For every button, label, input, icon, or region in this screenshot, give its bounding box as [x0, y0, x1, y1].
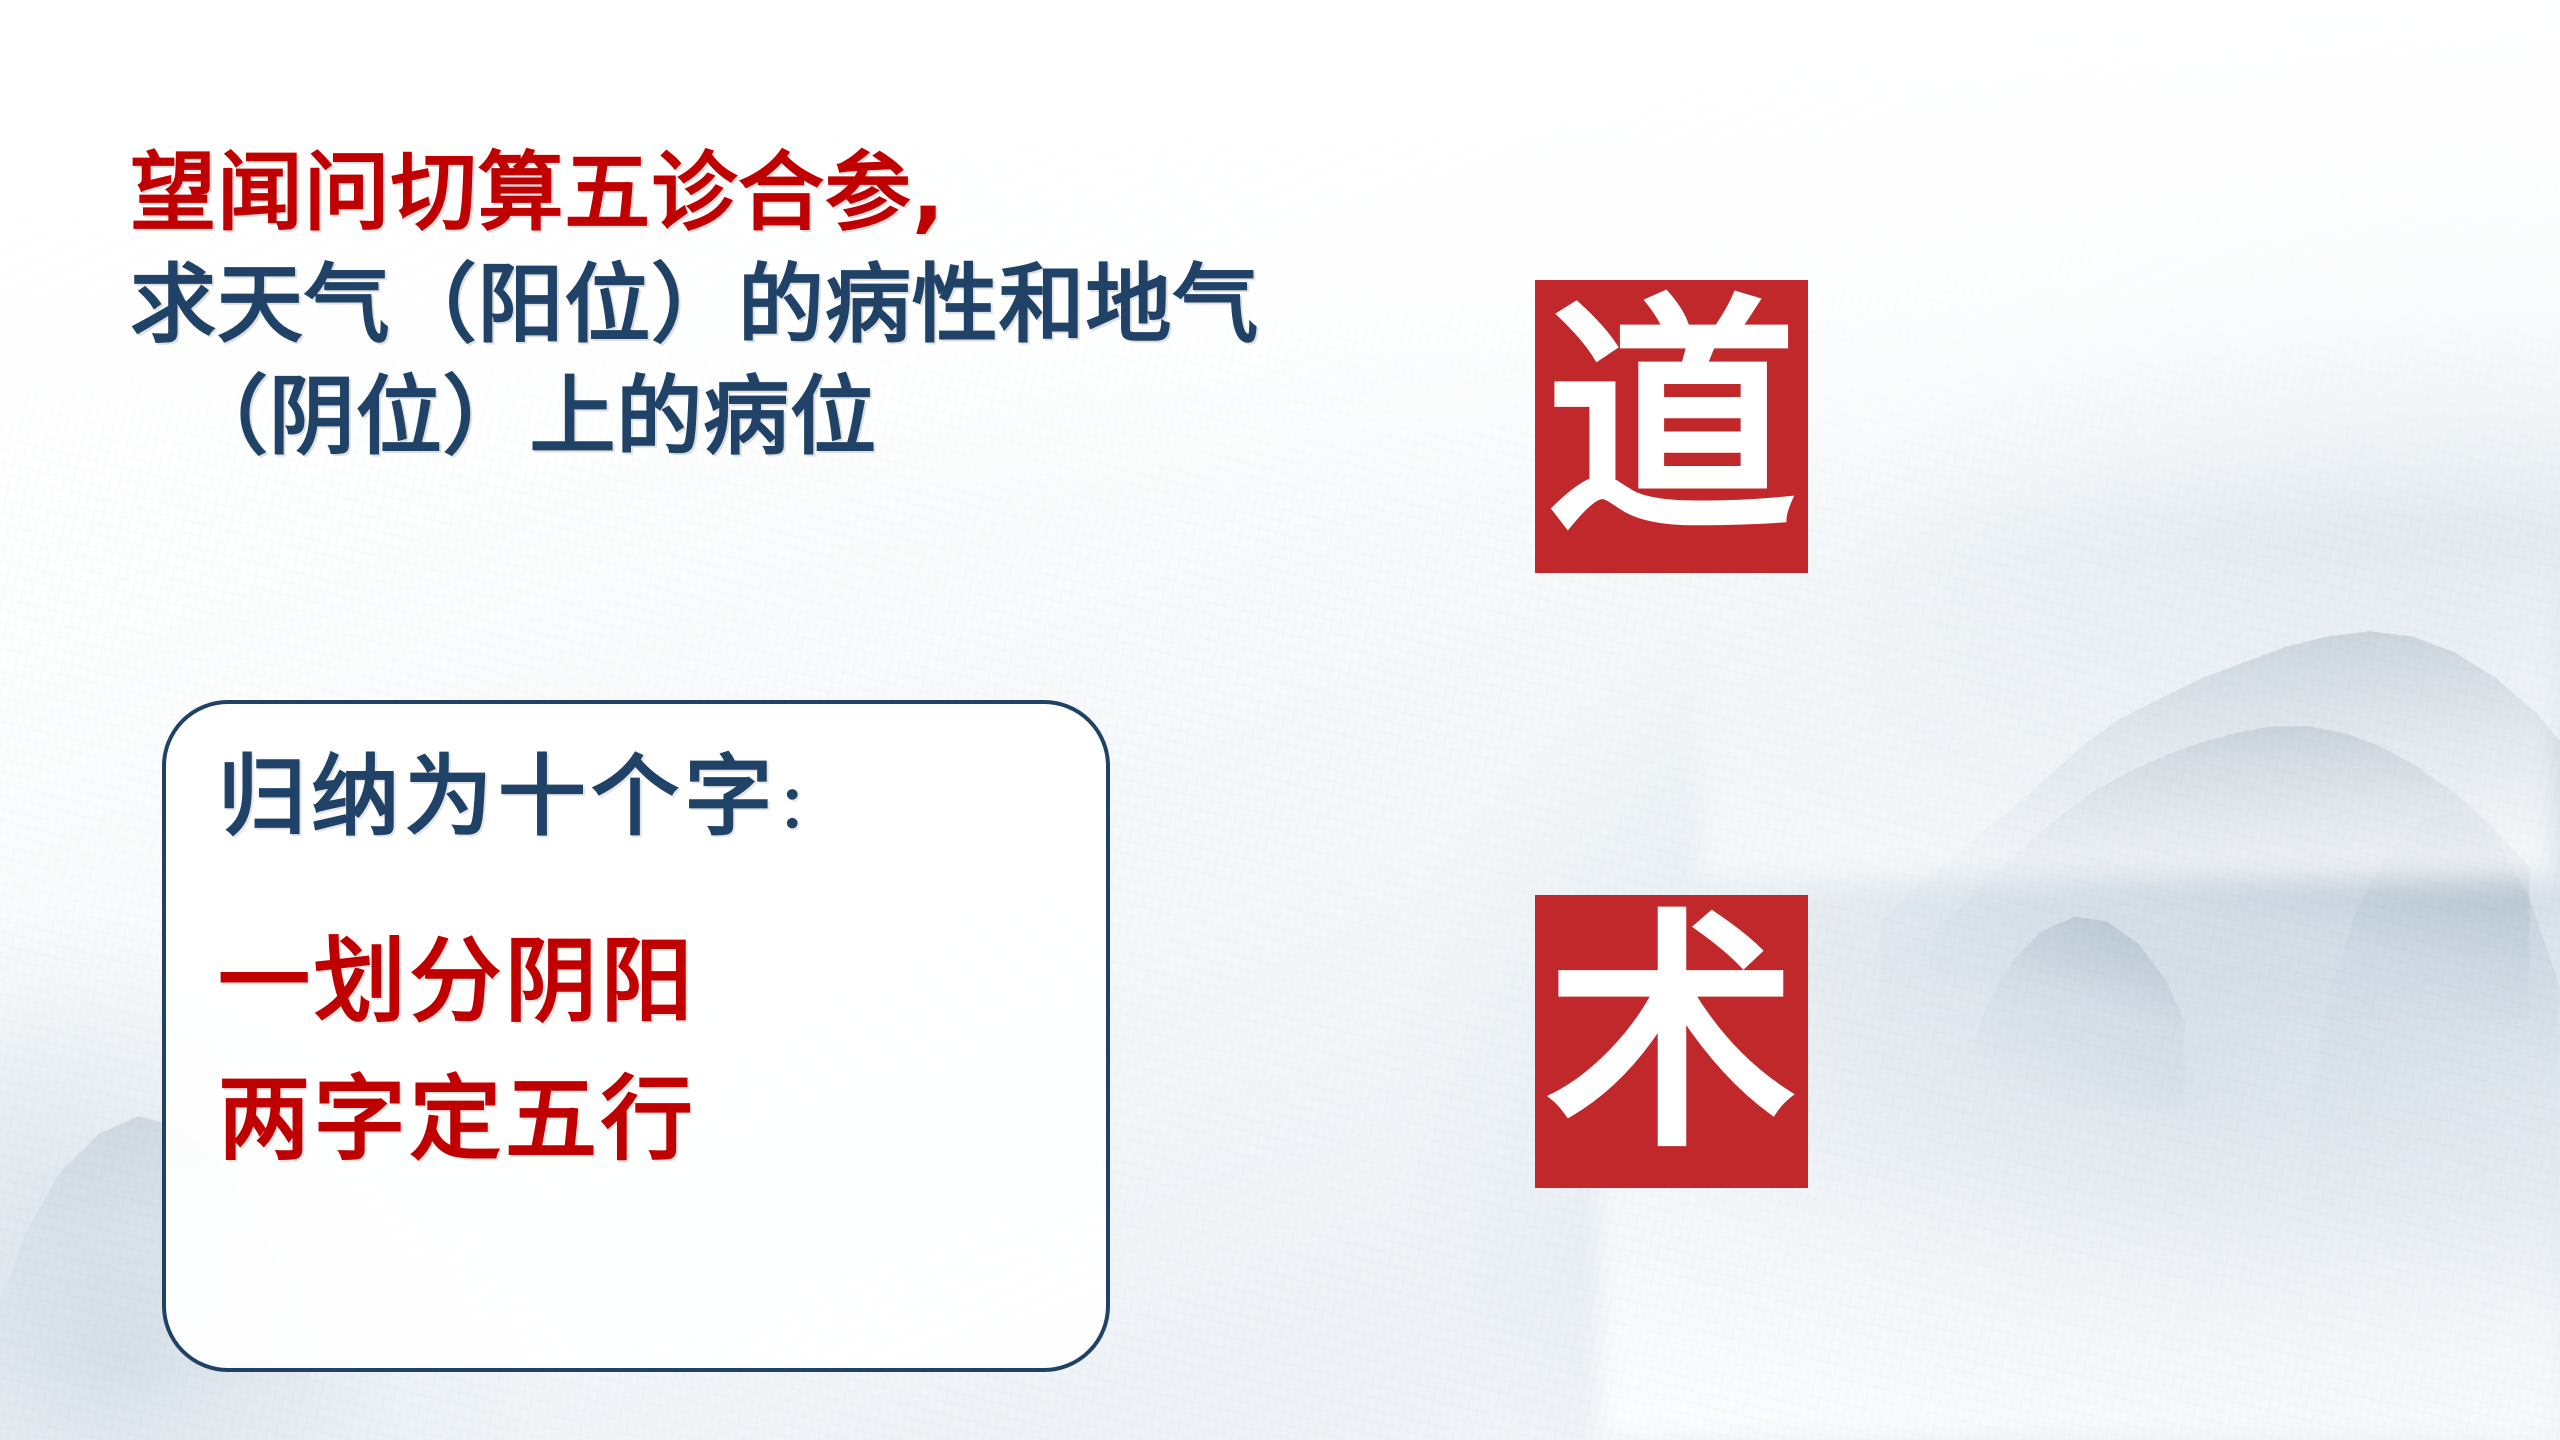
headline-line-3: （阴位）上的病位 — [130, 362, 1530, 474]
callout-heading-text: 归纳为十个字 — [218, 745, 778, 848]
seal-dao: 道 — [1535, 280, 1808, 573]
callout-spacer-1 — [218, 848, 1106, 926]
callout-item-1: 一划分阴阳 — [218, 926, 1106, 1038]
callout-spacer-2 — [218, 1038, 1106, 1064]
headline-block: 望闻问切算五诊合参, 求天气（阳位）的病性和地气 （阴位）上的病位 — [130, 138, 1530, 473]
callout-box: 归纳为十个字： 一划分阴阳 两字定五行 — [162, 700, 1110, 1372]
headline-line-2: 求天气（阳位）的病性和地气 — [130, 250, 1530, 362]
callout-heading: 归纳为十个字： — [218, 746, 1106, 848]
seal-shu: 术 — [1535, 895, 1808, 1188]
slide-canvas: 望闻问切算五诊合参, 求天气（阳位）的病性和地气 （阴位）上的病位 归纳为十个字… — [0, 0, 2560, 1440]
seal-shu-character: 术 — [1545, 910, 1797, 1162]
headline-line-1: 望闻问切算五诊合参, — [130, 138, 1530, 250]
seal-dao-character: 道 — [1545, 295, 1797, 547]
callout-heading-colon: ： — [778, 773, 836, 841]
callout-item-2: 两字定五行 — [218, 1064, 1106, 1176]
